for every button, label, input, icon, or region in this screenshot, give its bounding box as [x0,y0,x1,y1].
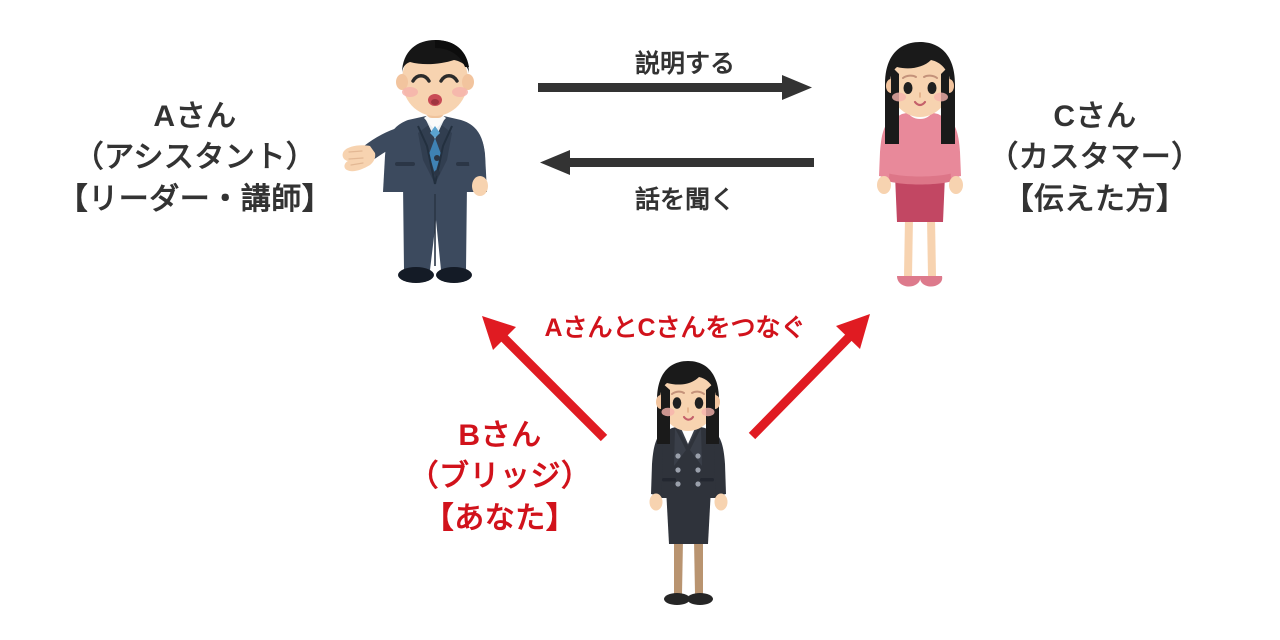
arrow-explain-label: 説明する [570,44,800,80]
person-b-name: Bさん [395,415,605,456]
arrow-listen [540,150,814,175]
person-a-name: Aさん [20,96,370,137]
person-b-label: Bさん （ブリッジ） 【あなた】 [395,415,605,539]
arrow-listen-label: 話を聞く [570,180,800,216]
person-a-role: （アシスタント） [20,137,370,178]
person-c-label: Cさん （カスタマー） 【伝えた方】 [930,96,1260,220]
arrow-bridge-label: AさんとCさんをつなぐ [520,308,830,344]
person-a-label: Aさん （アシスタント） 【リーダー・講師】 [20,96,370,220]
diagram-canvas: Aさん （アシスタント） 【リーダー・講師】 Cさん （カスタマー） 【伝えた方… [0,0,1280,640]
person-a-tag: 【リーダー・講師】 [20,179,370,220]
person-c-role: （カスタマー） [930,137,1260,178]
person-c-name: Cさん [930,96,1260,137]
person-c-tag: 【伝えた方】 [930,179,1260,220]
person-b-role: （ブリッジ） [395,456,605,497]
person-b-tag: 【あなた】 [395,498,605,539]
